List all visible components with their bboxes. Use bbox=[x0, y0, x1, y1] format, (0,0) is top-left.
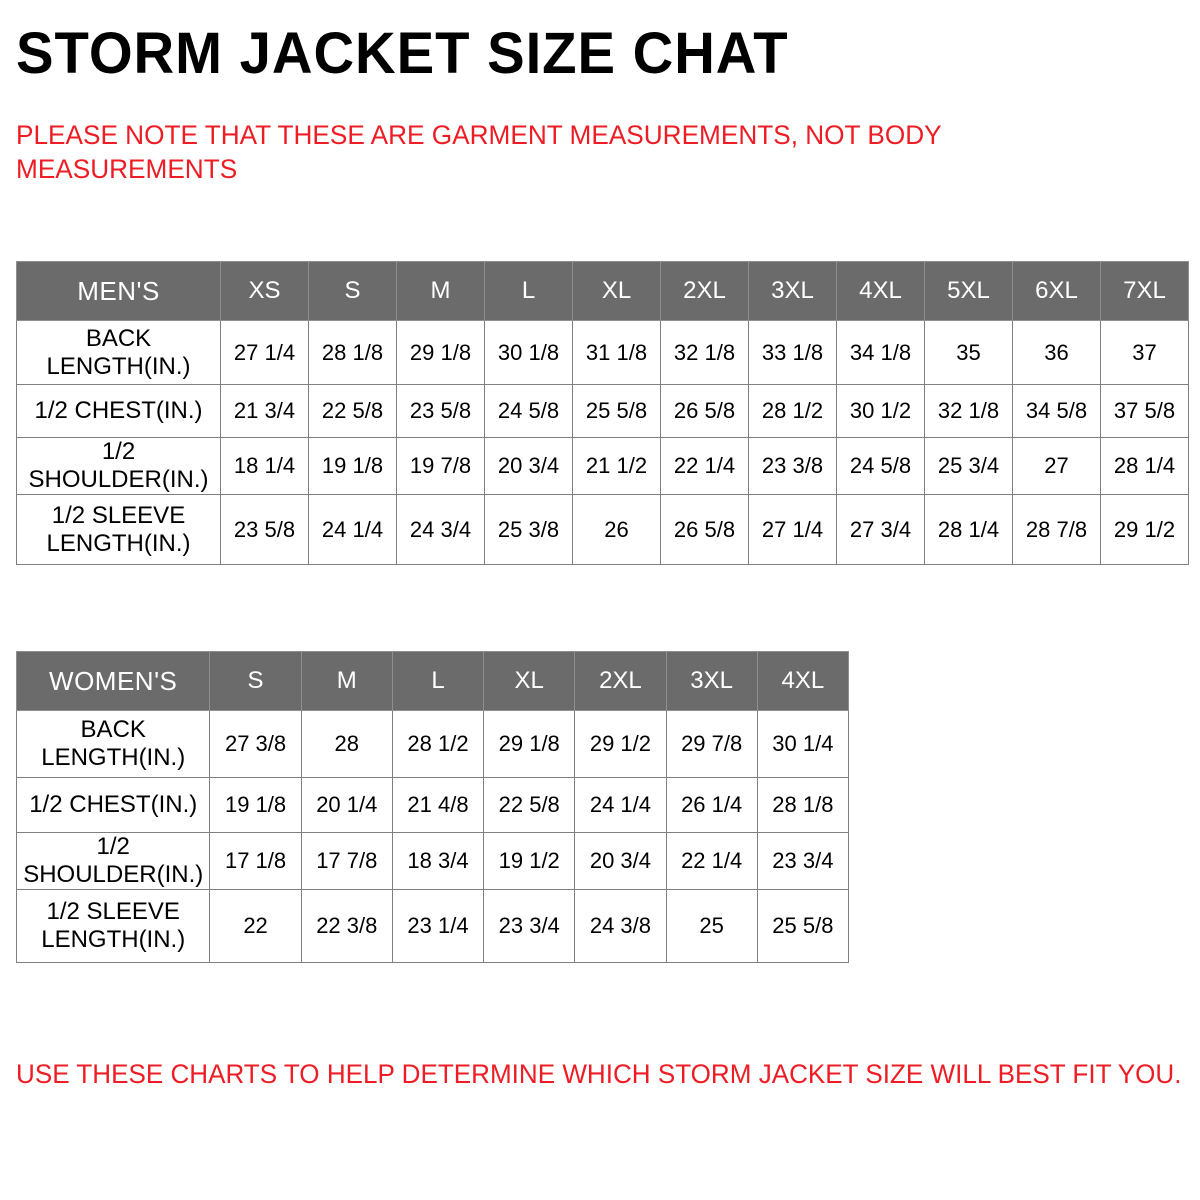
womens-size-header: 3XL bbox=[666, 652, 757, 711]
table-cell: 24 5/8 bbox=[837, 438, 925, 495]
table-cell: 22 1/4 bbox=[661, 438, 749, 495]
table-cell: 26 bbox=[573, 495, 661, 565]
table-cell: 19 7/8 bbox=[397, 438, 485, 495]
table-cell: 24 1/4 bbox=[309, 495, 397, 565]
table-cell: 32 1/8 bbox=[925, 385, 1013, 438]
mens-table-body: BACK LENGTH(IN.) 27 1/4 28 1/8 29 1/8 30… bbox=[17, 321, 1189, 565]
size-chart-page: STORM JACKET SIZE CHAT PLEASE NOTE THAT … bbox=[0, 0, 1200, 1200]
womens-header-row: WOMEN'S S M L XL 2XL 3XL 4XL bbox=[17, 652, 849, 711]
table-cell: 19 1/2 bbox=[484, 833, 575, 890]
page-title: STORM JACKET SIZE CHAT bbox=[16, 22, 789, 86]
womens-row-label: 1/2 SLEEVE LENGTH(IN.) bbox=[17, 890, 210, 963]
table-cell: 28 bbox=[301, 711, 392, 778]
table-cell: 32 1/8 bbox=[661, 321, 749, 385]
table-cell: 28 7/8 bbox=[1013, 495, 1101, 565]
mens-header-row: MEN'S XS S M L XL 2XL 3XL 4XL 5XL 6XL 7X… bbox=[17, 262, 1189, 321]
womens-row-label: 1/2 CHEST(IN.) bbox=[17, 778, 210, 833]
table-cell: 29 7/8 bbox=[666, 711, 757, 778]
mens-size-header: 4XL bbox=[837, 262, 925, 321]
table-cell: 22 3/8 bbox=[301, 890, 392, 963]
mens-size-header: 2XL bbox=[661, 262, 749, 321]
table-cell: 25 3/8 bbox=[485, 495, 573, 565]
table-cell: 27 1/4 bbox=[749, 495, 837, 565]
mens-size-header: XL bbox=[573, 262, 661, 321]
table-cell: 18 3/4 bbox=[392, 833, 483, 890]
garment-measurement-notice: PLEASE NOTE THAT THESE ARE GARMENT MEASU… bbox=[16, 118, 947, 186]
table-cell: 21 4/8 bbox=[392, 778, 483, 833]
table-row: 1/2 SLEEVE LENGTH(IN.) 22 22 3/8 23 1/4 … bbox=[17, 890, 849, 963]
table-cell: 31 1/8 bbox=[573, 321, 661, 385]
table-cell: 27 bbox=[1013, 438, 1101, 495]
mens-size-header: XS bbox=[221, 262, 309, 321]
womens-size-header: XL bbox=[484, 652, 575, 711]
table-cell: 22 bbox=[210, 890, 301, 963]
table-cell: 23 3/8 bbox=[749, 438, 837, 495]
mens-size-header: 5XL bbox=[925, 262, 1013, 321]
table-cell: 17 1/8 bbox=[210, 833, 301, 890]
table-cell: 28 1/2 bbox=[749, 385, 837, 438]
table-cell: 37 5/8 bbox=[1101, 385, 1189, 438]
table-cell: 37 bbox=[1101, 321, 1189, 385]
table-cell: 29 1/2 bbox=[575, 711, 666, 778]
womens-size-header: M bbox=[301, 652, 392, 711]
table-cell: 17 7/8 bbox=[301, 833, 392, 890]
table-cell: 28 1/8 bbox=[757, 778, 848, 833]
womens-size-table: WOMEN'S S M L XL 2XL 3XL 4XL BACK LENGTH… bbox=[16, 651, 849, 963]
table-cell: 36 bbox=[1013, 321, 1101, 385]
table-cell: 25 5/8 bbox=[573, 385, 661, 438]
table-cell: 21 3/4 bbox=[221, 385, 309, 438]
mens-row-label: BACK LENGTH(IN.) bbox=[17, 321, 221, 385]
womens-table-header: WOMEN'S S M L XL 2XL 3XL 4XL bbox=[17, 652, 849, 711]
mens-size-header: 7XL bbox=[1101, 262, 1189, 321]
table-row: 1/2 SHOULDER(IN.) 17 1/8 17 7/8 18 3/4 1… bbox=[17, 833, 849, 890]
mens-row-label: 1/2 CHEST(IN.) bbox=[17, 385, 221, 438]
table-cell: 24 1/4 bbox=[575, 778, 666, 833]
table-cell: 24 3/4 bbox=[397, 495, 485, 565]
table-cell: 34 5/8 bbox=[1013, 385, 1101, 438]
womens-size-header: 2XL bbox=[575, 652, 666, 711]
table-cell: 23 1/4 bbox=[392, 890, 483, 963]
mens-size-table: MEN'S XS S M L XL 2XL 3XL 4XL 5XL 6XL 7X… bbox=[16, 261, 1189, 565]
table-cell: 20 3/4 bbox=[485, 438, 573, 495]
womens-table-body: BACK LENGTH(IN.) 27 3/8 28 28 1/2 29 1/8… bbox=[17, 711, 849, 963]
mens-size-header: L bbox=[485, 262, 573, 321]
table-cell: 19 1/8 bbox=[210, 778, 301, 833]
mens-size-header: S bbox=[309, 262, 397, 321]
mens-size-header: 3XL bbox=[749, 262, 837, 321]
womens-row-label: BACK LENGTH(IN.) bbox=[17, 711, 210, 778]
table-cell: 29 1/2 bbox=[1101, 495, 1189, 565]
table-cell: 28 1/4 bbox=[925, 495, 1013, 565]
use-charts-notice: USE THESE CHARTS TO HELP DETERMINE WHICH… bbox=[16, 1058, 1135, 1090]
table-cell: 26 1/4 bbox=[666, 778, 757, 833]
table-cell: 30 1/2 bbox=[837, 385, 925, 438]
mens-row-label: 1/2 SHOULDER(IN.) bbox=[17, 438, 221, 495]
table-cell: 30 1/8 bbox=[485, 321, 573, 385]
table-row: 1/2 CHEST(IN.) 19 1/8 20 1/4 21 4/8 22 5… bbox=[17, 778, 849, 833]
mens-table-header: MEN'S XS S M L XL 2XL 3XL 4XL 5XL 6XL 7X… bbox=[17, 262, 1189, 321]
table-cell: 23 5/8 bbox=[221, 495, 309, 565]
table-row: 1/2 SHOULDER(IN.) 18 1/4 19 1/8 19 7/8 2… bbox=[17, 438, 1189, 495]
womens-corner-label: WOMEN'S bbox=[17, 652, 210, 711]
mens-corner-label: MEN'S bbox=[17, 262, 221, 321]
table-cell: 28 1/8 bbox=[309, 321, 397, 385]
table-cell: 26 5/8 bbox=[661, 495, 749, 565]
womens-row-label: 1/2 SHOULDER(IN.) bbox=[17, 833, 210, 890]
womens-size-header: L bbox=[392, 652, 483, 711]
table-cell: 24 3/8 bbox=[575, 890, 666, 963]
table-cell: 20 1/4 bbox=[301, 778, 392, 833]
mens-row-label: 1/2 SLEEVE LENGTH(IN.) bbox=[17, 495, 221, 565]
womens-size-header: S bbox=[210, 652, 301, 711]
table-cell: 34 1/8 bbox=[837, 321, 925, 385]
table-cell: 28 1/2 bbox=[392, 711, 483, 778]
table-cell: 29 1/8 bbox=[397, 321, 485, 385]
table-row: 1/2 CHEST(IN.) 21 3/4 22 5/8 23 5/8 24 5… bbox=[17, 385, 1189, 438]
table-cell: 33 1/8 bbox=[749, 321, 837, 385]
table-cell: 25 3/4 bbox=[925, 438, 1013, 495]
table-cell: 23 5/8 bbox=[397, 385, 485, 438]
table-cell: 29 1/8 bbox=[484, 711, 575, 778]
womens-size-header: 4XL bbox=[757, 652, 848, 711]
table-cell: 27 3/8 bbox=[210, 711, 301, 778]
table-cell: 35 bbox=[925, 321, 1013, 385]
table-cell: 30 1/4 bbox=[757, 711, 848, 778]
table-row: BACK LENGTH(IN.) 27 1/4 28 1/8 29 1/8 30… bbox=[17, 321, 1189, 385]
table-cell: 23 3/4 bbox=[757, 833, 848, 890]
table-cell: 22 1/4 bbox=[666, 833, 757, 890]
table-cell: 27 1/4 bbox=[221, 321, 309, 385]
table-cell: 21 1/2 bbox=[573, 438, 661, 495]
table-cell: 20 3/4 bbox=[575, 833, 666, 890]
table-cell: 26 5/8 bbox=[661, 385, 749, 438]
table-cell: 23 3/4 bbox=[484, 890, 575, 963]
table-cell: 24 5/8 bbox=[485, 385, 573, 438]
table-cell: 25 bbox=[666, 890, 757, 963]
table-cell: 19 1/8 bbox=[309, 438, 397, 495]
table-cell: 18 1/4 bbox=[221, 438, 309, 495]
table-cell: 22 5/8 bbox=[309, 385, 397, 438]
mens-size-header: 6XL bbox=[1013, 262, 1101, 321]
table-cell: 28 1/4 bbox=[1101, 438, 1189, 495]
table-row: 1/2 SLEEVE LENGTH(IN.) 23 5/8 24 1/4 24 … bbox=[17, 495, 1189, 565]
table-row: BACK LENGTH(IN.) 27 3/8 28 28 1/2 29 1/8… bbox=[17, 711, 849, 778]
table-cell: 25 5/8 bbox=[757, 890, 848, 963]
table-cell: 27 3/4 bbox=[837, 495, 925, 565]
table-cell: 22 5/8 bbox=[484, 778, 575, 833]
mens-size-header: M bbox=[397, 262, 485, 321]
